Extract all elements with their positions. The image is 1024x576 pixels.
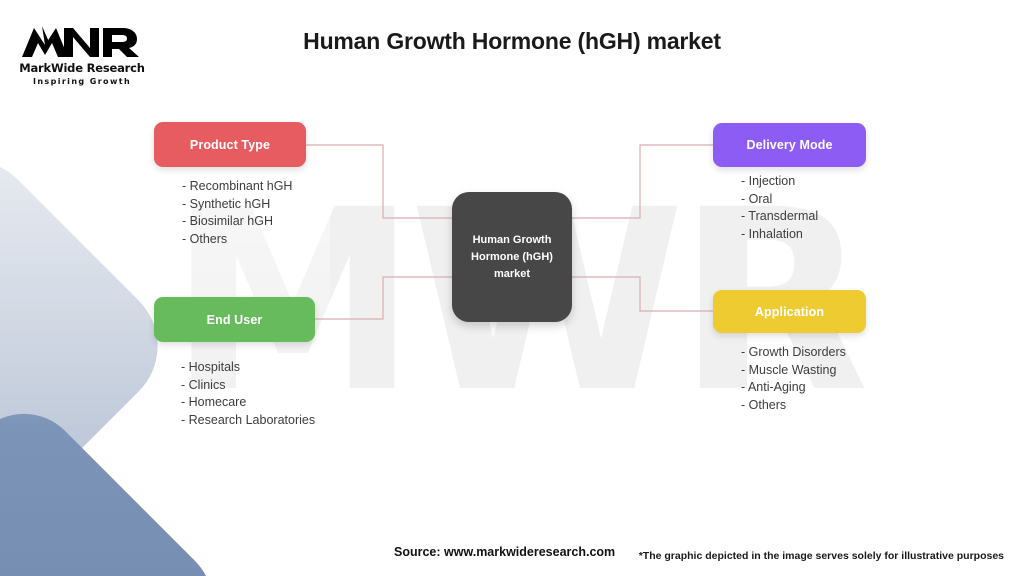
list-item: - Hospitals: [181, 359, 315, 377]
list-item: - Synthetic hGH: [182, 196, 292, 214]
branch-items-application: - Growth Disorders - Muscle Wasting - An…: [741, 344, 846, 414]
list-item: - Inhalation: [741, 226, 818, 244]
list-item: - Muscle Wasting: [741, 362, 846, 380]
footer-source: Source: www.markwideresearch.com: [394, 545, 615, 559]
list-item: - Recombinant hGH: [182, 178, 292, 196]
branch-label-product-type: Product Type: [190, 138, 270, 152]
list-item: - Research Laboratories: [181, 412, 315, 430]
list-item: - Oral: [741, 191, 818, 209]
branch-items-delivery-mode: - Injection - Oral - Transdermal - Inhal…: [741, 173, 818, 243]
list-item: - Transdermal: [741, 208, 818, 226]
branch-label-application: Application: [755, 305, 824, 319]
branch-node-product-type[interactable]: Product Type: [154, 122, 306, 167]
list-item: - Others: [741, 397, 846, 415]
list-item: - Growth Disorders: [741, 344, 846, 362]
branch-items-end-user: - Hospitals - Clinics - Homecare - Resea…: [181, 359, 315, 429]
list-item: - Clinics: [181, 377, 315, 395]
branch-node-delivery-mode[interactable]: Delivery Mode: [713, 123, 866, 167]
branch-label-end-user: End User: [207, 313, 263, 327]
list-item: - Biosimilar hGH: [182, 213, 292, 231]
branch-items-product-type: - Recombinant hGH - Synthetic hGH - Bios…: [182, 178, 292, 248]
list-item: - Homecare: [181, 394, 315, 412]
center-node[interactable]: Human Growth Hormone (hGH) market: [452, 192, 572, 322]
list-item: - Injection: [741, 173, 818, 191]
footer-disclaimer: *The graphic depicted in the image serve…: [639, 550, 1004, 562]
list-item: - Anti-Aging: [741, 379, 846, 397]
list-item: - Others: [182, 231, 292, 249]
branch-node-end-user[interactable]: End User: [154, 297, 315, 342]
branch-node-application[interactable]: Application: [713, 290, 866, 333]
infographic-canvas: MWR MarkWide Research Inspiring Growth H…: [0, 0, 1024, 576]
branch-label-delivery-mode: Delivery Mode: [746, 138, 832, 152]
center-node-label: Human Growth Hormone (hGH) market: [452, 232, 572, 283]
